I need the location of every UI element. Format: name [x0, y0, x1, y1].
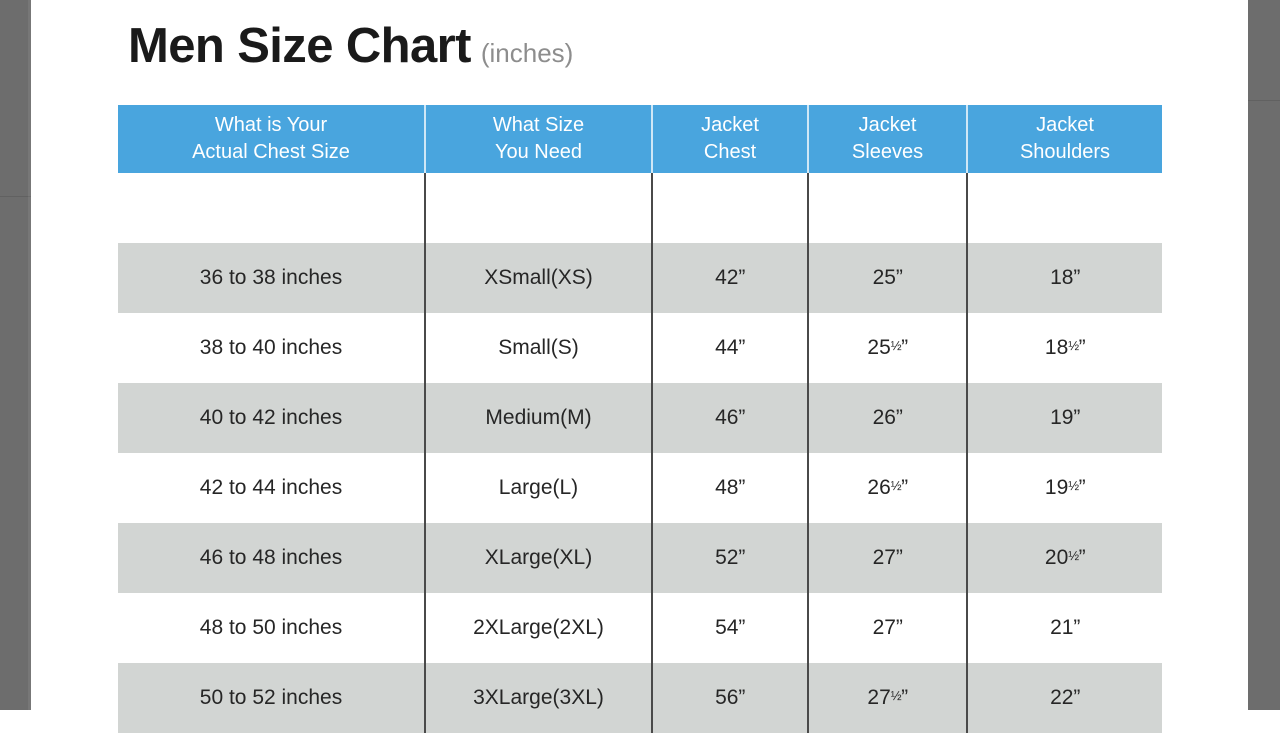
measurement-fraction: ½ [891, 338, 901, 353]
size-chart-table: What is Your Actual Chest Size What Size… [118, 105, 1162, 733]
measurement-value: 27 [867, 686, 890, 709]
inch-mark: ” [1079, 336, 1086, 359]
measurement-fraction: ½ [1068, 338, 1078, 353]
column-header-line2: Sleeves [813, 139, 962, 166]
cell-size-you-need: 3XLarge(3XL) [425, 663, 652, 733]
cell-size-you-need: Large(L) [425, 453, 652, 523]
measurement-value: 18 [1045, 336, 1068, 359]
cell-jacket-sleeves: 26½” [808, 453, 967, 523]
chart-page: Men Size Chart (inches) What is Your Act… [31, 0, 1248, 710]
measurement-value: 19 [1045, 476, 1068, 499]
cell-actual-chest-size: 50 to 52 inches [118, 663, 425, 733]
column-header-line2: Chest [657, 139, 803, 166]
cell-size-you-need: Small(S) [425, 313, 652, 383]
column-header-actual-chest-size: What is Your Actual Chest Size [118, 105, 425, 173]
table-row: 40 to 42 inchesMedium(M)46”26”19” [118, 383, 1162, 453]
table-row: 42 to 44 inchesLarge(L)48”26½”19½” [118, 453, 1162, 523]
cell-actual-chest-size: 42 to 44 inches [118, 453, 425, 523]
measurement-value: 48 [715, 476, 738, 499]
table-row: 46 to 48 inchesXLarge(XL)52”27”20½” [118, 523, 1162, 593]
cell-jacket-shoulders: 18” [967, 243, 1162, 313]
inch-mark: ” [896, 406, 903, 429]
measurement-fraction: ½ [1068, 548, 1078, 563]
column-header-line1: What is Your [122, 112, 420, 139]
measurement-value: 56 [715, 686, 738, 709]
inch-mark: ” [901, 476, 908, 499]
inch-mark: ” [738, 476, 745, 499]
cell-jacket-sleeves: 27½” [808, 663, 967, 733]
cell-jacket-chest: 48” [652, 453, 808, 523]
inch-mark: ” [901, 336, 908, 359]
table-header: What is Your Actual Chest Size What Size… [118, 105, 1162, 173]
inch-mark: ” [1073, 406, 1080, 429]
cell-jacket-shoulders: 18½” [967, 313, 1162, 383]
cell-jacket-sleeves: 27” [808, 523, 967, 593]
measurement-value: 25 [873, 266, 896, 289]
inch-mark: ” [738, 686, 745, 709]
cell-jacket-sleeves: 26” [808, 383, 967, 453]
inch-mark: ” [1079, 546, 1086, 569]
cell-jacket-sleeves: 27” [808, 593, 967, 663]
cell-jacket-chest: 56” [652, 663, 808, 733]
cell-actual-chest-size: 40 to 42 inches [118, 383, 425, 453]
cell-jacket-chest: 42” [652, 243, 808, 313]
measurement-value: 18 [1050, 266, 1073, 289]
table-body: 36 to 38 inchesXSmall(XS)42”25”18”38 to … [118, 173, 1162, 733]
inch-mark: ” [1073, 686, 1080, 709]
column-header-line1: Jacket [813, 112, 962, 139]
column-header-size-you-need: What Size You Need [425, 105, 652, 173]
measurement-value: 20 [1045, 546, 1068, 569]
inch-mark: ” [896, 616, 903, 639]
cell-jacket-sleeves: 25” [808, 243, 967, 313]
cell-jacket-chest: 52” [652, 523, 808, 593]
cell-size-you-need: XLarge(XL) [425, 523, 652, 593]
measurement-value: 25 [867, 336, 890, 359]
cell-jacket-shoulders: 21” [967, 593, 1162, 663]
edge-band-seam [0, 196, 31, 197]
column-header-line1: What Size [430, 112, 647, 139]
cell-jacket-shoulders: 19” [967, 383, 1162, 453]
cell-actual-chest-size: 46 to 48 inches [118, 523, 425, 593]
inch-mark: ” [896, 266, 903, 289]
column-header-jacket-shoulders: Jacket Shoulders [967, 105, 1162, 173]
inch-mark: ” [1079, 476, 1086, 499]
page-title-unit: (inches) [481, 40, 573, 66]
measurement-value: 42 [715, 266, 738, 289]
table-row: 48 to 50 inches2XLarge(2XL)54”27”21” [118, 593, 1162, 663]
inch-mark: ” [738, 406, 745, 429]
inch-mark: ” [738, 616, 745, 639]
table-header-row: What is Your Actual Chest Size What Size… [118, 105, 1162, 173]
table-row: 38 to 40 inchesSmall(S)44”25½”18½” [118, 313, 1162, 383]
cell-jacket-shoulders: 19½” [967, 453, 1162, 523]
table-row: 50 to 52 inches3XLarge(3XL)56”27½”22” [118, 663, 1162, 733]
measurement-fraction: ½ [891, 688, 901, 703]
measurement-value: 22 [1050, 686, 1073, 709]
cell-jacket-sleeves: 25½” [808, 313, 967, 383]
column-header-line2: Shoulders [972, 139, 1158, 166]
cell-actual-chest-size: 48 to 50 inches [118, 593, 425, 663]
column-header-line1: Jacket [657, 112, 803, 139]
measurement-value: 52 [715, 546, 738, 569]
measurement-value: 21 [1050, 616, 1073, 639]
measurement-value: 46 [715, 406, 738, 429]
cell-size-you-need: Medium(M) [425, 383, 652, 453]
cell-actual-chest-size: 36 to 38 inches [118, 243, 425, 313]
cell-jacket-chest: 46” [652, 383, 808, 453]
cell-jacket-chest: 44” [652, 313, 808, 383]
edge-band-seam [1248, 100, 1280, 101]
cell-size-you-need: XSmall(XS) [425, 243, 652, 313]
measurement-value: 27 [873, 546, 896, 569]
inch-mark: ” [1073, 616, 1080, 639]
table-row: 36 to 38 inchesXSmall(XS)42”25”18” [118, 243, 1162, 313]
measurement-value: 19 [1050, 406, 1073, 429]
cell-jacket-chest: 54” [652, 593, 808, 663]
column-header-line2: Actual Chest Size [122, 139, 420, 166]
measurement-fraction: ½ [1068, 478, 1078, 493]
inch-mark: ” [1073, 266, 1080, 289]
left-edge-band [0, 0, 31, 710]
cell-jacket-shoulders: 20½” [967, 523, 1162, 593]
measurement-value: 26 [873, 406, 896, 429]
inch-mark: ” [896, 546, 903, 569]
inch-mark: ” [901, 686, 908, 709]
measurement-fraction: ½ [891, 478, 901, 493]
measurement-value: 44 [715, 336, 738, 359]
inch-mark: ” [738, 546, 745, 569]
column-header-line1: Jacket [972, 112, 1158, 139]
cell-jacket-shoulders: 22” [967, 663, 1162, 733]
measurement-value: 26 [867, 476, 890, 499]
column-header-jacket-chest: Jacket Chest [652, 105, 808, 173]
inch-mark: ” [738, 266, 745, 289]
header-body-gap [118, 173, 1162, 243]
inch-mark: ” [738, 336, 745, 359]
right-edge-band [1248, 0, 1280, 710]
column-header-jacket-sleeves: Jacket Sleeves [808, 105, 967, 173]
measurement-value: 27 [873, 616, 896, 639]
cell-actual-chest-size: 38 to 40 inches [118, 313, 425, 383]
page-title-main: Men Size Chart [128, 22, 471, 71]
page-title: Men Size Chart (inches) [128, 22, 573, 71]
cell-size-you-need: 2XLarge(2XL) [425, 593, 652, 663]
column-header-line2: You Need [430, 139, 647, 166]
measurement-value: 54 [715, 616, 738, 639]
